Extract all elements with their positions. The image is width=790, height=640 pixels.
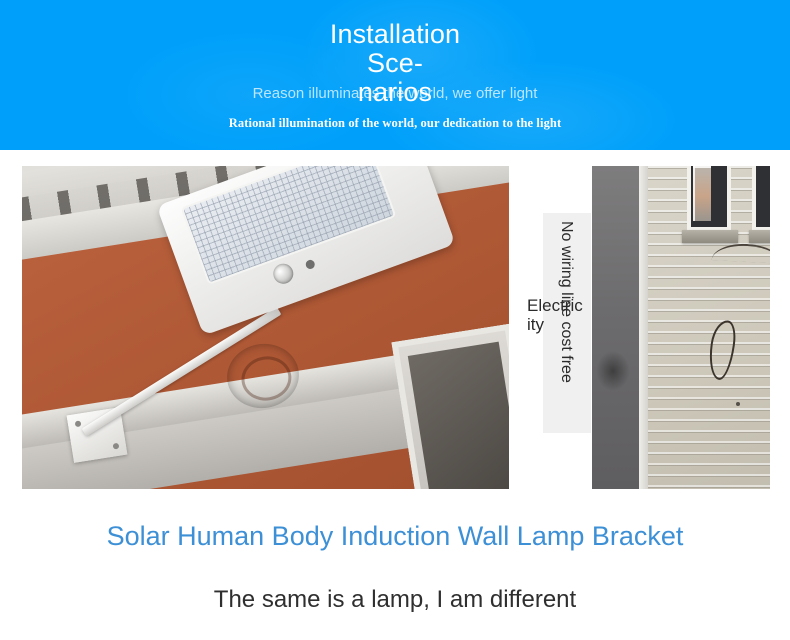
right-photo-window-secondary <box>752 166 770 231</box>
installation-photo-right <box>592 166 770 489</box>
banner-content: Installation Sce- narios Reason illumina… <box>0 0 790 150</box>
product-title: Solar Human Body Induction Wall Lamp Bra… <box>0 518 790 554</box>
installation-photo-left <box>22 166 509 489</box>
right-photo-window-sill-primary <box>682 230 738 243</box>
banner-subtitle-primary: Reason illuminates the world, we offer l… <box>0 84 790 103</box>
right-photo-shadowed-wall <box>592 166 639 489</box>
right-photo-corner-trim <box>639 166 648 489</box>
right-photo-wall-speck <box>736 402 740 406</box>
banner-subtitle-secondary: Rational illumination of the world, our … <box>0 116 790 131</box>
photo-gallery: No wiring line cost free Electricity <box>0 150 790 510</box>
no-wiring-callout-panel: No wiring line cost free Electricity <box>543 213 591 433</box>
left-photo-motion-sensor <box>270 261 296 287</box>
product-tagline: The same is a lamp, I am different <box>0 584 790 616</box>
page-banner: Installation Sce- narios Reason illumina… <box>0 0 790 150</box>
left-photo-lamp-button <box>304 259 316 271</box>
right-photo-window-primary <box>687 166 731 231</box>
left-photo-window-glass <box>408 342 509 489</box>
right-photo-window-sill-secondary <box>749 230 770 243</box>
callout-electricity-label: Electricity <box>527 296 585 334</box>
